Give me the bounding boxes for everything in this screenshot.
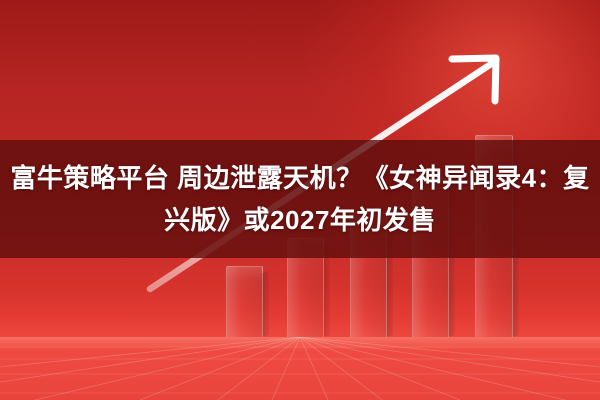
- headline-line-2: 兴版》或2027年初发售: [164, 199, 436, 241]
- promo-banner: 富牛策略平台 周边泄露天机？《女神异闻录4：复 兴版》或2027年初发售: [0, 0, 600, 400]
- headline-line-1: 富牛策略平台 周边泄露天机？《女神异闻录4：复: [10, 157, 589, 199]
- headline: 富牛策略平台 周边泄露天机？《女神异闻录4：复 兴版》或2027年初发售: [0, 142, 600, 256]
- bar-1: [226, 266, 263, 337]
